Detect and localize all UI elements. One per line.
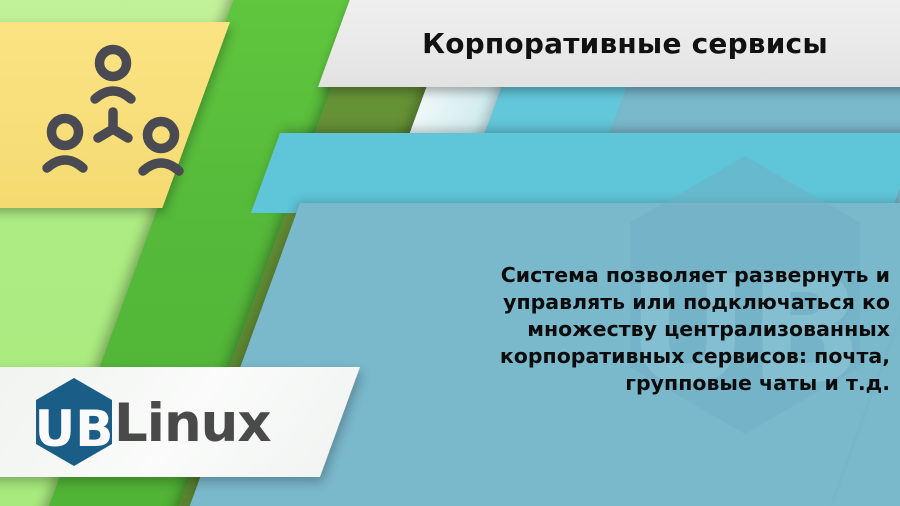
slide-canvas: UB Корпоративные сервисы Система позволя…: [0, 0, 900, 506]
logo-mark-text: UB: [35, 400, 114, 458]
logo-wordmark: Linux: [114, 397, 271, 450]
group-of-people-connected-icon: [38, 40, 188, 190]
body-text: Система позволяет развернуть и управлять…: [478, 262, 890, 397]
page-title: Корпоративные сервисы: [350, 0, 900, 87]
ub-hexagon-logo-icon: UB: [32, 376, 116, 468]
cyan-accent-panel: [251, 133, 900, 213]
brand-logo: UB Linux: [32, 372, 271, 472]
